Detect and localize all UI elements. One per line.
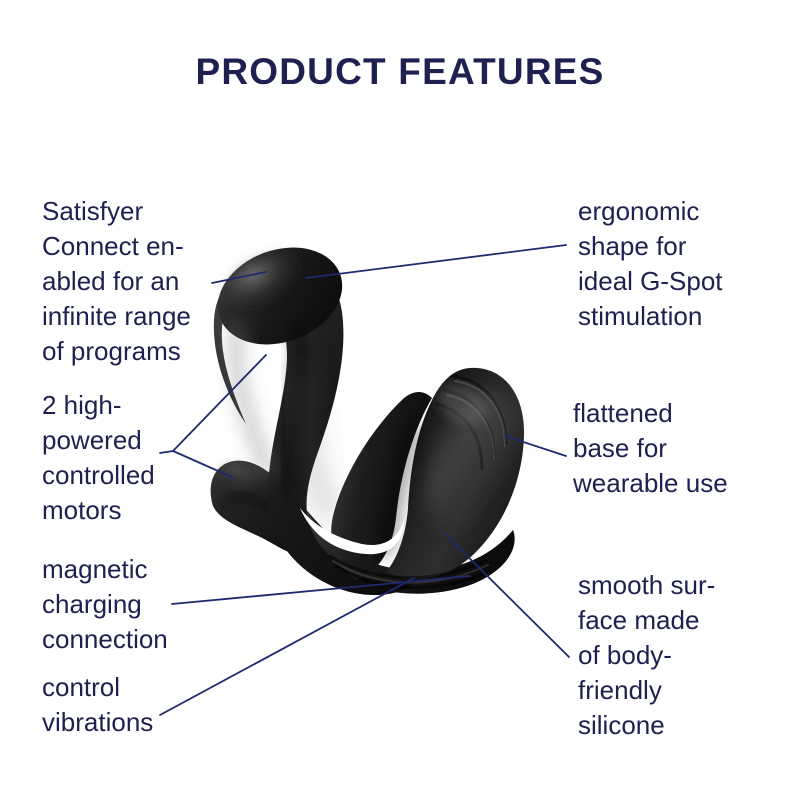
callout-label-smooth: smooth sur- face made of body- friendly … — [578, 568, 793, 743]
callout-label-flattened: flattened base for wearable use — [573, 396, 793, 501]
callout-label-connect: Satisfyer Connect en- abled for an infin… — [42, 194, 242, 369]
callout-label-motors: 2 high- powered controlled motors — [42, 388, 232, 528]
callout-label-ergonomic: ergonomic shape for ideal G-Spot stimula… — [578, 194, 793, 334]
product-body — [204, 231, 529, 595]
callout-label-control: control vibrations — [42, 670, 242, 740]
product-features-infographic: PRODUCT FEATURES — [0, 0, 800, 800]
callout-label-magnetic: magnetic charging connection — [42, 552, 242, 657]
